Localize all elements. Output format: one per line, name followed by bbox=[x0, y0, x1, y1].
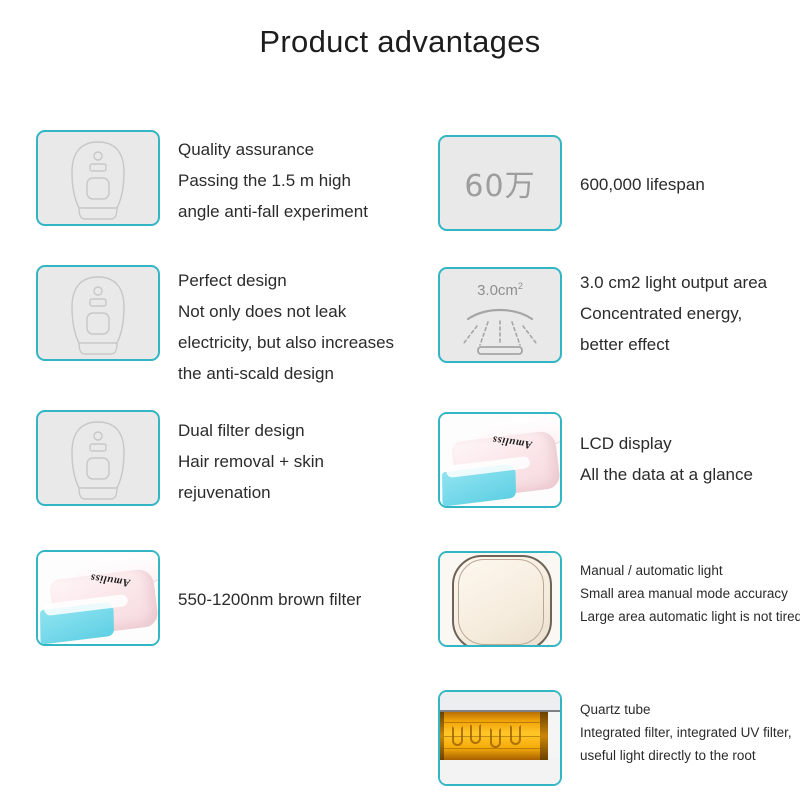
feature-quartz-tube: Quartz tube Integrated filter, integrate… bbox=[438, 690, 792, 786]
tube-stripe bbox=[438, 748, 548, 749]
light-rays-svg bbox=[448, 305, 552, 361]
handheld-ipl-device-outline-icon bbox=[36, 410, 160, 506]
lifespan-count-label: 60万 bbox=[440, 137, 560, 229]
feature-line: 550-1200nm brown filter bbox=[178, 584, 361, 615]
tube-housing-top bbox=[440, 692, 560, 712]
device-head-lcd-photo-icon: Amuliss bbox=[36, 550, 160, 646]
feature-line: electricity, but also increases bbox=[178, 327, 394, 358]
feature-text-block: Manual / automatic light Small area manu… bbox=[580, 551, 800, 628]
feature-text-block: Perfect design Not only does not leak el… bbox=[178, 265, 394, 389]
feature-lifespan: 60万 600,000 lifespan bbox=[438, 135, 705, 231]
feature-line: Not only does not leak bbox=[178, 296, 394, 327]
feature-line: Small area manual mode accuracy bbox=[580, 582, 800, 605]
cream-button-photo-icon bbox=[438, 551, 562, 647]
light-output-area-label: 3.0cm2 bbox=[440, 281, 560, 299]
tube-stripe bbox=[438, 722, 548, 723]
tube-body bbox=[438, 712, 548, 760]
light-output-rays-icon: 3.0cm2 bbox=[438, 267, 562, 363]
feature-quality-assurance: Quality assurance Passing the 1.5 m high… bbox=[36, 130, 368, 227]
feature-line: the anti-scald design bbox=[178, 358, 394, 389]
feature-text-block: LCD display All the data at a glance bbox=[580, 412, 753, 490]
device-outline-svg bbox=[59, 273, 137, 359]
device-head-lcd-photo-icon: Amuliss bbox=[438, 412, 562, 508]
quartz-tube-photo-icon bbox=[438, 690, 562, 786]
feature-text-block: Quality assurance Passing the 1.5 m high… bbox=[178, 130, 368, 227]
feature-text-block: 600,000 lifespan bbox=[580, 135, 705, 200]
feature-line: useful light directly to the root bbox=[580, 744, 792, 767]
area-value: 3.0cm bbox=[477, 282, 518, 299]
tube-coil bbox=[470, 724, 481, 744]
feature-line: Integrated filter, integrated UV filter, bbox=[580, 721, 792, 744]
feature-text-block: Quartz tube Integrated filter, integrate… bbox=[580, 690, 792, 767]
feature-line: LCD display bbox=[580, 428, 753, 459]
feature-line: Concentrated energy, bbox=[580, 298, 767, 329]
tube-housing-bottom bbox=[440, 758, 560, 784]
lifespan-count-icon: 60万 bbox=[438, 135, 562, 231]
tube-coil bbox=[452, 726, 463, 746]
tube-coil bbox=[490, 728, 501, 748]
feature-line: Hair removal + skin bbox=[178, 446, 324, 477]
feature-lcd-display: Amuliss LCD display All the data at a gl… bbox=[438, 412, 753, 508]
area-unit-exponent: 2 bbox=[518, 281, 523, 291]
tube-end-left bbox=[438, 712, 444, 760]
feature-line: Dual filter design bbox=[178, 415, 324, 446]
feature-manual-automatic-light: Manual / automatic light Small area manu… bbox=[438, 551, 800, 647]
tube-end-right bbox=[540, 712, 548, 760]
tube-coil bbox=[510, 725, 521, 745]
feature-line: 600,000 lifespan bbox=[580, 169, 705, 200]
feature-line: Perfect design bbox=[178, 265, 394, 296]
feature-line: angle anti-fall experiment bbox=[178, 196, 368, 227]
feature-text-block: Dual filter design Hair removal + skin r… bbox=[178, 410, 324, 508]
cream-button-photo bbox=[440, 553, 560, 645]
cream-button-inner-ring bbox=[458, 559, 544, 645]
feature-text-block: 3.0 cm2 light output area Concentrated e… bbox=[580, 267, 767, 360]
page-title: Product advantages bbox=[0, 24, 800, 60]
feature-line: Manual / automatic light bbox=[580, 559, 800, 582]
feature-line: 3.0 cm2 light output area bbox=[580, 267, 767, 298]
feature-line: better effect bbox=[580, 329, 767, 360]
device-head-photo: Amuliss bbox=[38, 552, 158, 644]
device-outline-svg bbox=[59, 418, 137, 504]
feature-line: Passing the 1.5 m high bbox=[178, 165, 368, 196]
feature-line: Quartz tube bbox=[580, 698, 792, 721]
handheld-ipl-device-outline-icon bbox=[36, 130, 160, 226]
feature-line: Large area automatic light is not tired bbox=[580, 605, 800, 628]
feature-dual-filter: Dual filter design Hair removal + skin r… bbox=[36, 410, 324, 508]
feature-text-block: 550-1200nm brown filter bbox=[178, 550, 361, 615]
handheld-ipl-device-outline-icon bbox=[36, 265, 160, 361]
feature-line: rejuvenation bbox=[178, 477, 324, 508]
feature-line: Quality assurance bbox=[178, 134, 368, 165]
feature-line: All the data at a glance bbox=[580, 459, 753, 490]
feature-perfect-design: Perfect design Not only does not leak el… bbox=[36, 265, 394, 389]
device-head-photo: Amuliss bbox=[440, 414, 560, 506]
feature-light-output-area: 3.0cm2 3.0 cm2 light output area Concent… bbox=[438, 267, 767, 363]
feature-brown-filter: Amuliss 550-1200nm brown filter bbox=[36, 550, 361, 646]
quartz-tube-photo bbox=[440, 692, 560, 784]
device-outline-svg bbox=[59, 138, 137, 224]
